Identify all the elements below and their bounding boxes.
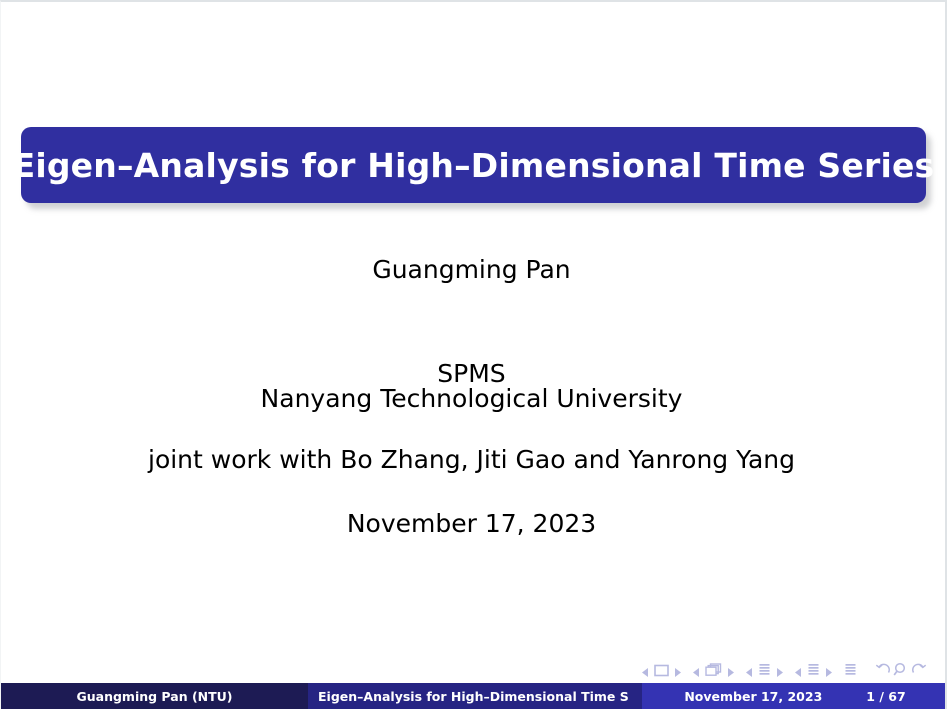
prev-subsection-icon[interactable] [746,662,753,681]
footline-author: Guangming Pan (NTU) [1,683,308,709]
history-navigation-group[interactable] [875,662,927,681]
forward-icon[interactable] [911,662,927,681]
next-frame-icon[interactable] [727,662,734,681]
next-subsection-icon[interactable] [776,662,783,681]
frame-icon[interactable] [705,662,722,681]
page-title: Eigen–Analysis for High–Dimensional Time… [13,146,935,185]
prev-section-icon[interactable] [795,662,802,681]
frame-navigation-group[interactable] [693,662,734,681]
next-section-icon[interactable] [825,662,832,681]
subsection-icon[interactable] [758,662,771,681]
presentation-navigation-group[interactable] [844,662,857,681]
back-icon[interactable] [875,662,891,681]
prev-slide-icon[interactable] [642,662,649,681]
footline-page-number: 1 / 67 [866,689,905,704]
footline: Guangming Pan (NTU) Eigen–Analysis for H… [1,683,947,709]
beamer-navigation-bar [642,660,927,682]
section-navigation-group[interactable] [795,662,832,681]
presentation-icon[interactable] [844,662,857,681]
prev-frame-icon[interactable] [693,662,700,681]
search-icon[interactable] [893,662,909,681]
title-block: Eigen–Analysis for High–Dimensional Time… [21,127,926,203]
institute-line-2: Nanyang Technological University [1,384,942,413]
section-icon[interactable] [807,662,820,681]
slide-icon[interactable] [654,662,669,681]
slide-navigation-group[interactable] [642,662,681,681]
next-slide-icon[interactable] [674,662,681,681]
footline-date: November 17, 2023 [684,689,866,704]
footline-date-page: November 17, 2023 1 / 67 [642,683,947,709]
footline-title: Eigen–Analysis for High–Dimensional Time… [308,683,642,709]
author-name: Guangming Pan [1,255,942,284]
presentation-date: November 17, 2023 [1,509,942,538]
title-block-body: Eigen–Analysis for High–Dimensional Time… [21,127,926,203]
joint-work-note: joint work with Bo Zhang, Jiti Gao and Y… [1,445,942,474]
presentation-slide: Eigen–Analysis for High–Dimensional Time… [0,0,947,709]
subsection-navigation-group[interactable] [746,662,783,681]
